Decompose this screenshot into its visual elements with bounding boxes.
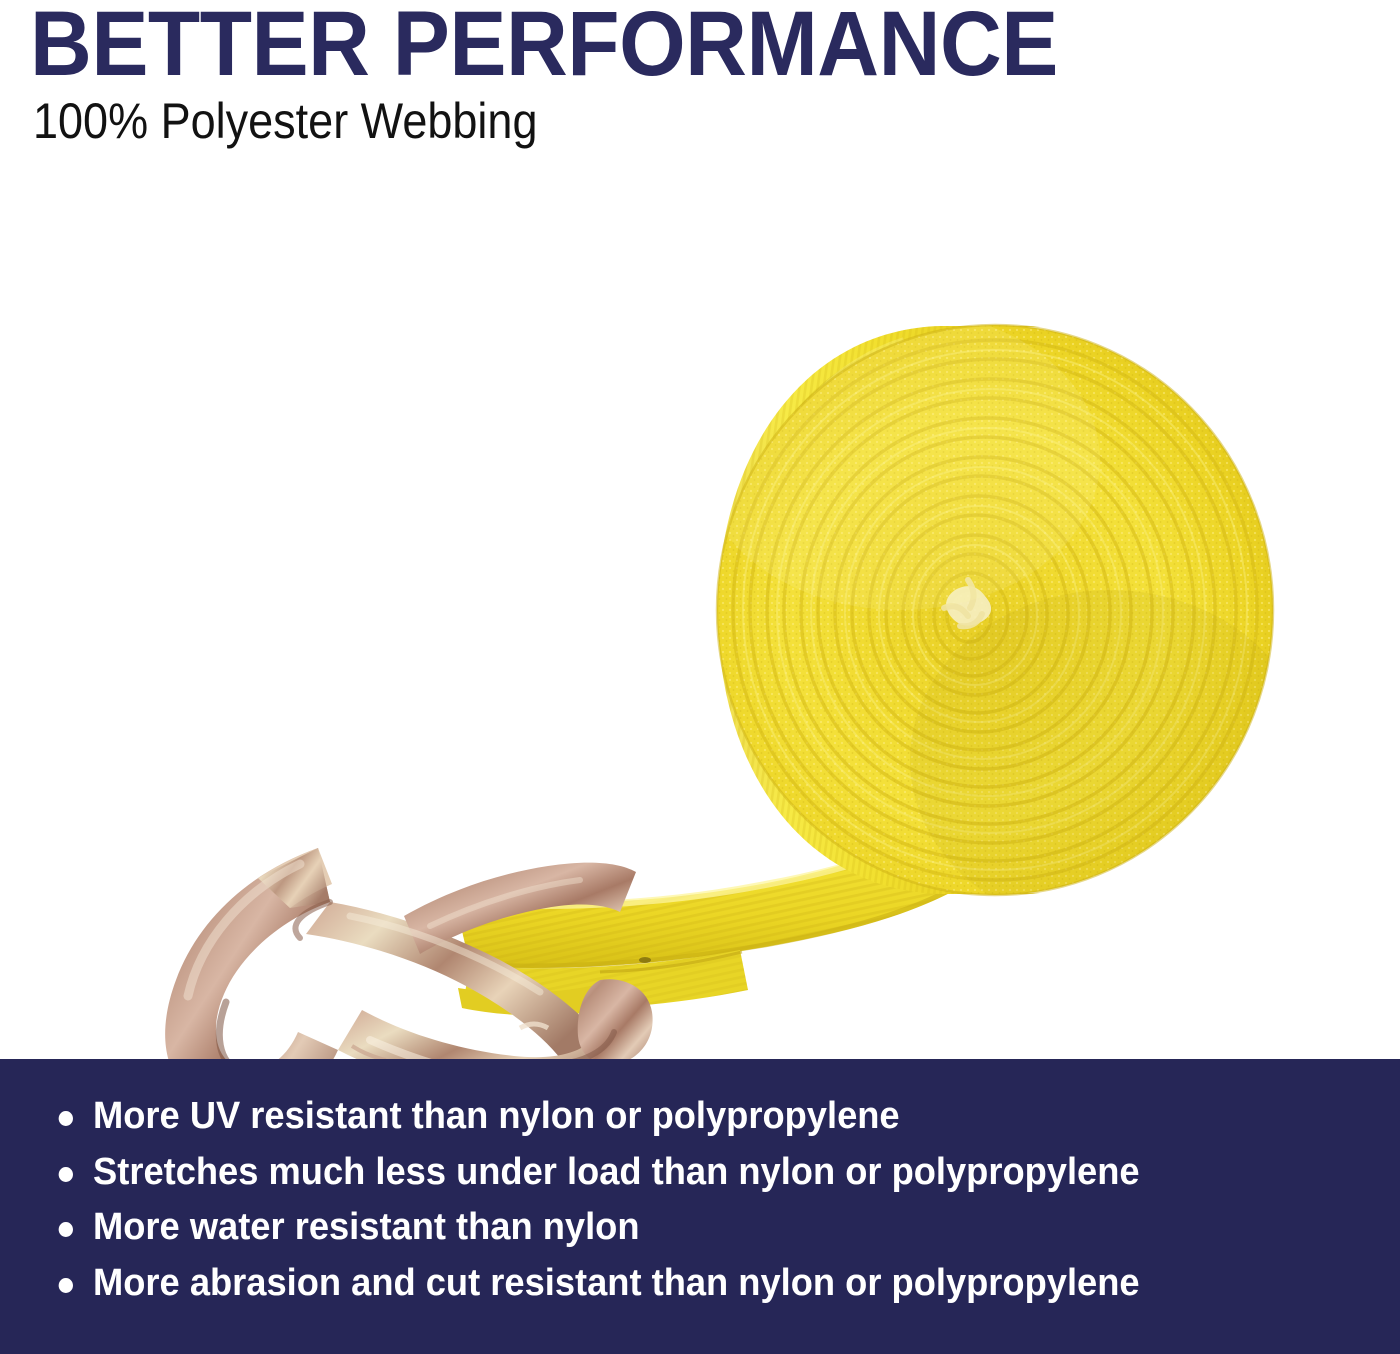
page-subtitle: 100% Polyester Webbing xyxy=(33,96,537,146)
features-panel: More UV resistant than nylon or polyprop… xyxy=(0,1059,1400,1354)
feature-item: More UV resistant than nylon or polyprop… xyxy=(30,1095,1310,1138)
webbing-roll xyxy=(700,310,1310,930)
features-list: More UV resistant than nylon or polyprop… xyxy=(30,1095,1370,1304)
product-illustration xyxy=(0,160,1400,1060)
product-image xyxy=(0,160,1400,1060)
feature-item: More water resistant than nylon xyxy=(30,1206,1310,1249)
page-title: BETTER PERFORMANCE xyxy=(30,0,1276,88)
feature-item: Stretches much less under load than nylo… xyxy=(30,1151,1310,1194)
product-feature-card: BETTER PERFORMANCE 100% Polyester Webbin… xyxy=(0,0,1400,1354)
header-block: BETTER PERFORMANCE 100% Polyester Webbin… xyxy=(30,0,1370,88)
feature-item: More abrasion and cut resistant than nyl… xyxy=(30,1262,1310,1305)
